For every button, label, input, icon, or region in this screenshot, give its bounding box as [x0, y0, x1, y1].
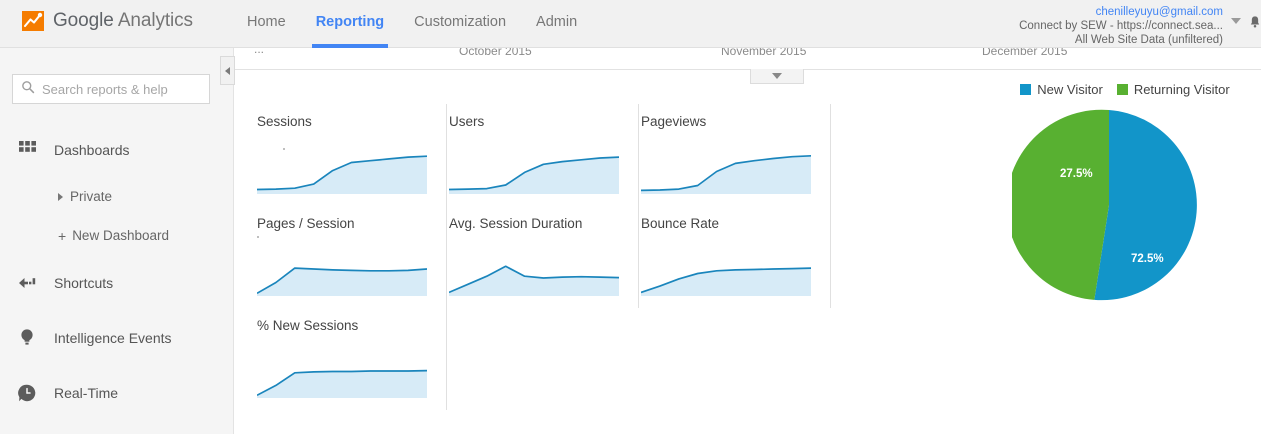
sparkline-chart	[257, 353, 427, 398]
visitor-type-pie-block: New Visitor Returning Visitor 27.5% 72.5…	[994, 82, 1256, 318]
left-sidebar: Dashboards Private + New Dashboard	[0, 48, 234, 434]
metric-title: Users	[447, 114, 638, 129]
pie-slice-new-visitor	[1094, 110, 1197, 300]
sparkline-chart	[641, 251, 811, 296]
collapse-left-arrow-icon	[225, 67, 230, 75]
metrics-row: Pages / Session Avg. Session Duration	[255, 206, 839, 308]
google-analytics-logo-icon	[22, 9, 46, 33]
metric-card-placeholder	[639, 308, 831, 410]
legend-label-returning-visitor: Returning Visitor	[1134, 82, 1230, 97]
pie-slice-returning-visitor	[1012, 110, 1109, 300]
sidebar-item-shortcuts[interactable]: Shortcuts	[0, 255, 234, 310]
legend-label-new-visitor: New Visitor	[1037, 82, 1103, 97]
pie-chart-wrap: 27.5% 72.5%	[994, 108, 1256, 318]
pie-label-new-visitor: 72.5%	[1131, 253, 1164, 265]
brand-text: Google Analytics	[53, 10, 193, 32]
metrics-grid: Sessions Users Pageviews	[255, 104, 839, 410]
realtime-clock-icon	[14, 380, 40, 406]
shortcuts-arrow-icon	[14, 270, 40, 296]
account-view: All Web Site Data (unfiltered)	[1019, 33, 1223, 47]
nav-item-customization[interactable]: Customization	[399, 0, 521, 48]
pie-label-returning-visitor: 27.5%	[1060, 168, 1093, 180]
sidebar-item-shortcuts-label: Shortcuts	[54, 275, 113, 291]
metric-title: Pages / Session	[255, 216, 446, 231]
metric-title: Sessions	[255, 114, 446, 129]
metric-title: Bounce Rate	[639, 216, 830, 231]
legend-item-returning-visitor[interactable]: Returning Visitor	[1117, 82, 1230, 97]
metrics-row: % New Sessions	[255, 308, 839, 410]
pie-legend: New Visitor Returning Visitor	[994, 82, 1256, 97]
main-nav: Home Reporting Customization Admin	[232, 0, 592, 48]
sparkline-dot-marker	[257, 236, 259, 238]
metric-card-percent-new-sessions[interactable]: % New Sessions	[255, 308, 447, 410]
timeline-ellipsis: ...	[254, 48, 264, 56]
notifications-bell-icon[interactable]	[1248, 12, 1261, 32]
legend-item-new-visitor[interactable]: New Visitor	[1020, 82, 1103, 97]
report-content: ... October 2015 November 2015 December …	[234, 48, 1261, 434]
account-selector[interactable]: chenilleyuyu@gmail.com Connect by SEW - …	[1019, 5, 1223, 47]
metric-card-placeholder	[447, 308, 639, 410]
collapse-down-arrow-icon	[772, 73, 782, 79]
timeline-month-october: October 2015	[459, 48, 532, 58]
brand-logo[interactable]: Google Analytics	[22, 9, 193, 33]
sparkline-chart	[449, 149, 619, 194]
search-icon	[21, 80, 35, 99]
nav-item-reporting[interactable]: Reporting	[301, 0, 399, 48]
visitor-type-pie-chart[interactable]	[1012, 108, 1206, 302]
sidebar-item-intelligence-events[interactable]: Intelligence Events	[0, 310, 234, 365]
sidebar-nav-list: Dashboards Private + New Dashboard	[0, 122, 234, 434]
sparkline-chart	[641, 149, 811, 194]
metric-card-bounce-rate[interactable]: Bounce Rate	[639, 206, 831, 308]
sparkline-chart	[257, 251, 427, 296]
sidebar-subitem-new-dashboard-label: New Dashboard	[72, 228, 169, 243]
legend-swatch-returning-visitor	[1117, 84, 1128, 95]
lightbulb-icon	[14, 325, 40, 351]
triangle-right-icon	[58, 193, 63, 201]
sidebar-item-real-time-label: Real-Time	[54, 385, 118, 401]
account-property: Connect by SEW - https://connect.sea...	[1019, 19, 1223, 33]
metric-card-avg-session-duration[interactable]: Avg. Session Duration	[447, 206, 639, 308]
search-input[interactable]	[42, 82, 202, 97]
sidebar-item-audience[interactable]: Audience	[0, 420, 234, 434]
metric-title: Pageviews	[639, 114, 830, 129]
timeline-month-december: December 2015	[982, 48, 1067, 58]
metric-card-sessions[interactable]: Sessions	[255, 104, 447, 206]
search-reports-box[interactable]	[12, 74, 210, 104]
account-email: chenilleyuyu@gmail.com	[1019, 5, 1223, 19]
chevron-down-icon[interactable]	[1231, 18, 1241, 24]
top-bar: Google Analytics Home Reporting Customiz…	[0, 0, 1261, 48]
brand-google: Google	[53, 10, 114, 31]
dashboards-grid-icon	[14, 137, 40, 163]
nav-item-admin[interactable]: Admin	[521, 0, 592, 48]
legend-swatch-new-visitor	[1020, 84, 1031, 95]
sidebar-item-real-time[interactable]: Real-Time	[0, 365, 234, 420]
metric-title: Avg. Session Duration	[447, 216, 638, 231]
sidebar-subitem-private[interactable]: Private	[0, 177, 234, 216]
metrics-row: Sessions Users Pageviews	[255, 104, 839, 206]
sparkline-chart	[449, 251, 619, 296]
sidebar-item-intelligence-events-label: Intelligence Events	[54, 330, 172, 346]
timeline-collapse-toggle[interactable]	[750, 69, 804, 84]
sidebar-collapse-button[interactable]	[220, 56, 235, 85]
metric-card-pages-per-session[interactable]: Pages / Session	[255, 206, 447, 308]
metric-title: % New Sessions	[255, 318, 446, 333]
sidebar-subitem-private-label: Private	[70, 189, 112, 204]
sidebar-subitem-new-dashboard[interactable]: + New Dashboard	[0, 216, 234, 255]
sidebar-item-dashboards[interactable]: Dashboards	[0, 122, 234, 177]
nav-item-home[interactable]: Home	[232, 0, 301, 48]
plus-icon: +	[58, 228, 66, 244]
timeline-month-november: November 2015	[721, 48, 806, 58]
brand-analytics: Analytics	[118, 10, 193, 31]
sparkline-chart	[257, 149, 427, 194]
timeline-header: ... October 2015 November 2015 December …	[234, 48, 1261, 70]
metric-card-pageviews[interactable]: Pageviews	[639, 104, 831, 206]
google-analytics-page: Google Analytics Home Reporting Customiz…	[0, 0, 1261, 434]
sidebar-item-dashboards-label: Dashboards	[54, 142, 130, 158]
metric-card-users[interactable]: Users	[447, 104, 639, 206]
